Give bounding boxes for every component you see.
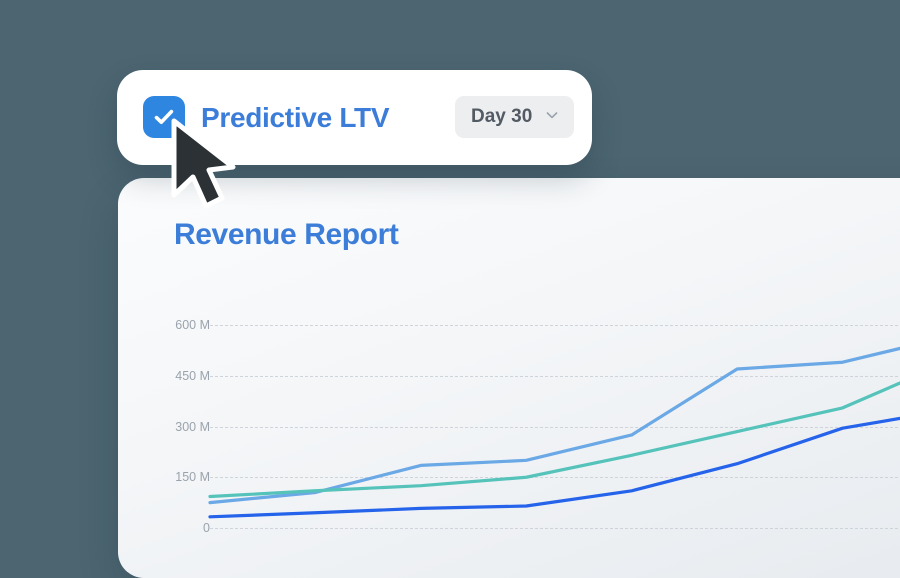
chart-series-layer xyxy=(118,178,900,578)
day-range-value: Day 30 xyxy=(471,106,532,128)
day-range-dropdown[interactable]: Day 30 xyxy=(455,96,574,138)
revenue-line-chart: 0150 M300 M450 M600 M xyxy=(118,178,900,578)
revenue-report-card: Revenue Report 0150 M300 M450 M600 M xyxy=(118,178,900,578)
series-teal xyxy=(210,362,900,496)
chevron-down-icon xyxy=(544,107,560,128)
series-blue xyxy=(210,410,900,517)
mouse-pointer-icon xyxy=(168,118,242,214)
screen: Revenue Report 0150 M300 M450 M600 M Pre… xyxy=(0,0,900,550)
